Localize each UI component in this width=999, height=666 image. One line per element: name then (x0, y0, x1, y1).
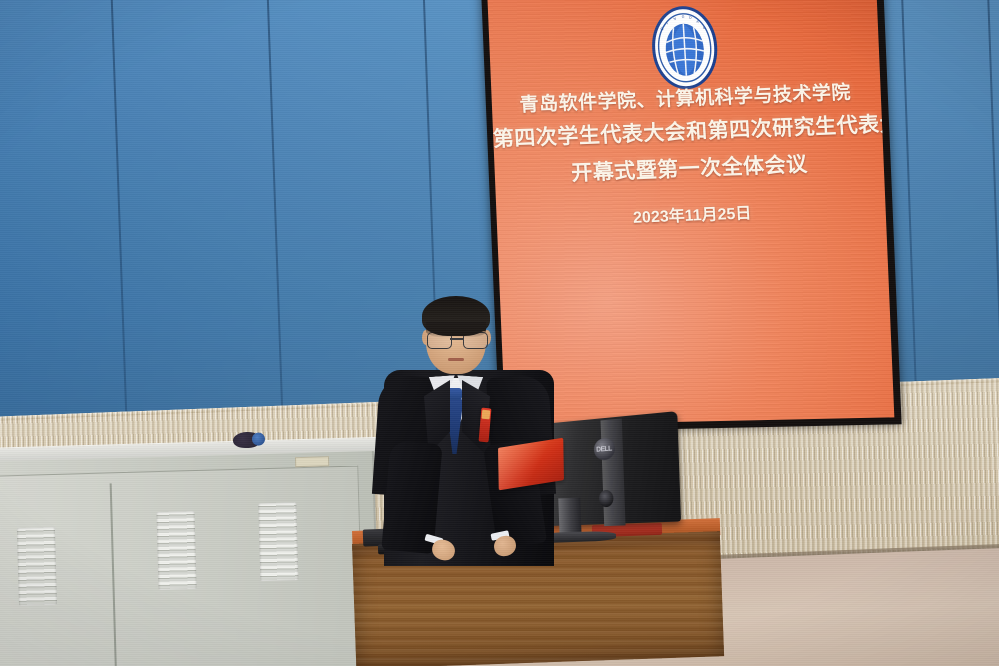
cabinet-vent-icon (17, 527, 57, 606)
conference-photo: Q I N G D A O 青岛软件学院、计算机科学与技术学院 第四次学生代表大… (0, 0, 999, 666)
svg-text:D: D (688, 16, 691, 20)
svg-text:G: G (681, 15, 684, 19)
monitor-center-strip (600, 418, 625, 526)
cabinet-vent-icon (156, 511, 196, 590)
cabinet-door-panel[interactable] (0, 465, 364, 666)
cabinet-label-plate (295, 456, 329, 467)
slide-date: 2023年11月25日 (497, 194, 887, 239)
glasses-bridge (450, 338, 463, 340)
equipment-cabinet (0, 451, 380, 666)
hair (422, 296, 490, 336)
mouth (448, 358, 464, 361)
slide-text-block: 青岛软件学院、计算机科学与技术学院 第四次学生代表大会和第四次研究生代表大会 开… (490, 76, 887, 239)
cabinet-vent-icon (258, 502, 298, 581)
university-emblem-icon: Q I N G D A O (646, 2, 723, 93)
cabinet-door-split (110, 483, 118, 666)
speaker-figure (378, 292, 558, 562)
